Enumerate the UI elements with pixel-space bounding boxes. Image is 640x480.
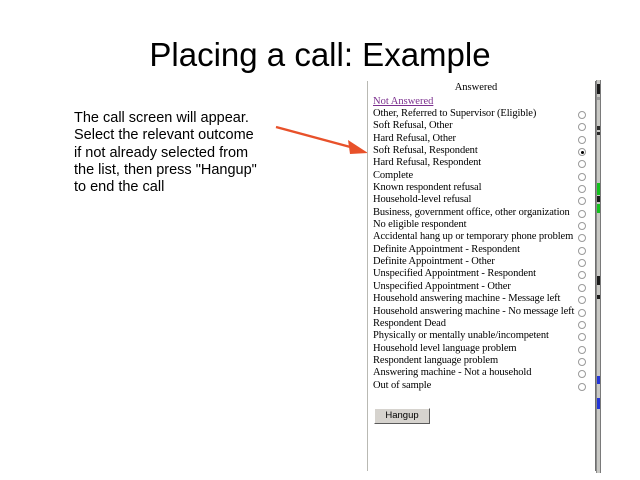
radio-button[interactable] — [578, 173, 586, 181]
slide-canvas: Placing a call: Example The call screen … — [0, 0, 640, 480]
radio-button[interactable] — [578, 284, 586, 292]
call-outcome-label: Accidental hang up or temporary phone pr… — [373, 231, 573, 243]
call-outcome-row[interactable]: Physically or mentally unable/incompeten… — [368, 330, 595, 342]
radio-button[interactable] — [578, 309, 586, 317]
radio-button[interactable] — [578, 370, 586, 378]
call-outcome-label: Respondent language problem — [373, 355, 498, 367]
call-outcome-row[interactable]: Business, government office, other organ… — [368, 207, 595, 219]
edge-strip-mark — [597, 204, 600, 213]
radio-button[interactable] — [578, 234, 586, 242]
call-outcome-row[interactable]: No eligible respondent — [368, 219, 595, 231]
call-outcome-row[interactable]: Unspecified Appointment - Respondent — [368, 268, 595, 280]
not-answered-link[interactable]: Not Answered — [373, 96, 433, 107]
call-outcome-label: Household answering machine - No message… — [373, 306, 574, 318]
call-outcome-row[interactable]: Unspecified Appointment - Other — [368, 281, 595, 293]
call-outcome-row[interactable]: Household-level refusal — [368, 194, 595, 206]
call-outcome-label: Hard Refusal, Respondent — [373, 157, 481, 169]
edge-strip-mark — [597, 376, 600, 384]
edge-strip-mark — [597, 84, 600, 94]
radio-button[interactable] — [578, 136, 586, 144]
edge-strip-mark — [597, 183, 600, 195]
radio-button[interactable] — [578, 160, 586, 168]
radio-button[interactable] — [578, 321, 586, 329]
radio-button[interactable] — [578, 296, 586, 304]
radio-button[interactable] — [578, 210, 586, 218]
call-outcome-label: Soft Refusal, Respondent — [373, 145, 478, 157]
edge-strip-mark — [597, 276, 600, 285]
call-outcome-label: Definite Appointment - Respondent — [373, 244, 520, 256]
call-outcome-label: Household level language problem — [373, 343, 516, 355]
radio-button[interactable] — [578, 383, 586, 391]
instruction-line: the list, then press "Hangup" — [74, 162, 279, 179]
radio-button[interactable] — [578, 247, 586, 255]
call-outcome-row[interactable]: Soft Refusal, Other — [368, 120, 595, 132]
call-outcome-label: Other, Referred to Supervisor (Eligible) — [373, 108, 536, 120]
edge-strip-mark — [597, 126, 600, 130]
call-outcome-label: Respondent Dead — [373, 318, 446, 330]
call-outcome-label: Hard Refusal, Other — [373, 133, 456, 145]
call-outcome-row[interactable]: Soft Refusal, Respondent — [368, 145, 595, 157]
call-outcome-label: Known respondent refusal — [373, 182, 481, 194]
window-edge-strip — [596, 80, 601, 473]
call-outcome-label: Unspecified Appointment - Respondent — [373, 268, 536, 280]
radio-button[interactable] — [578, 358, 586, 366]
call-outcome-label: No eligible respondent — [373, 219, 466, 231]
edge-strip-mark — [597, 132, 600, 135]
call-outcome-label: Soft Refusal, Other — [373, 120, 452, 132]
call-outcome-label: Business, government office, other organ… — [373, 207, 570, 219]
call-outcome-label: Household answering machine - Message le… — [373, 293, 560, 305]
call-outcome-row[interactable]: Definite Appointment - Respondent — [368, 244, 595, 256]
call-screen-panel: Answered Not Answered Other, Referred to… — [367, 81, 596, 471]
edge-strip-mark — [597, 295, 600, 299]
call-outcome-label: Out of sample — [373, 380, 431, 392]
answered-header: Answered — [368, 82, 584, 93]
instruction-text-block: The call screen will appear. Select the … — [74, 110, 279, 196]
instruction-line: if not already selected from — [74, 145, 279, 162]
radio-button[interactable] — [578, 333, 586, 341]
call-outcome-row[interactable]: Household answering machine - Message le… — [368, 293, 595, 305]
radio-button[interactable] — [578, 197, 586, 205]
instruction-line: The call screen will appear. — [74, 110, 279, 127]
call-outcome-row[interactable]: Hard Refusal, Other — [368, 133, 595, 145]
call-outcome-label: Physically or mentally unable/incompeten… — [373, 330, 549, 342]
call-outcome-label: Complete — [373, 170, 413, 182]
call-outcome-label: Definite Appointment - Other — [373, 256, 495, 268]
call-outcome-row[interactable]: Hard Refusal, Respondent — [368, 157, 595, 169]
call-outcome-label: Household-level refusal — [373, 194, 471, 206]
call-outcome-row[interactable]: Known respondent refusal — [368, 182, 595, 194]
edge-strip-mark — [597, 398, 600, 409]
call-outcome-row[interactable]: Household level language problem — [368, 343, 595, 355]
call-outcome-row[interactable]: Accidental hang up or temporary phone pr… — [368, 231, 595, 243]
page-title: Placing a call: Example — [0, 36, 640, 74]
call-outcome-label: Answering machine - Not a household — [373, 367, 531, 379]
call-outcome-list: Other, Referred to Supervisor (Eligible)… — [368, 108, 595, 392]
call-outcome-row[interactable]: Definite Appointment - Other — [368, 256, 595, 268]
call-outcome-row[interactable]: Household answering machine - No message… — [368, 306, 595, 318]
radio-button[interactable] — [578, 123, 586, 131]
radio-button[interactable] — [578, 222, 586, 230]
radio-button-selected[interactable] — [578, 148, 586, 156]
callout-arrow-icon — [272, 115, 372, 163]
radio-button[interactable] — [578, 259, 586, 267]
radio-button[interactable] — [578, 185, 586, 193]
hangup-button[interactable]: Hangup — [374, 408, 430, 424]
instruction-line: Select the relevant outcome — [74, 127, 279, 144]
call-outcome-row[interactable]: Respondent Dead — [368, 318, 595, 330]
edge-strip-mark — [597, 196, 600, 202]
radio-button[interactable] — [578, 346, 586, 354]
call-outcome-row[interactable]: Complete — [368, 170, 595, 182]
call-outcome-row[interactable]: Answering machine - Not a household — [368, 367, 595, 379]
call-outcome-row[interactable]: Other, Referred to Supervisor (Eligible) — [368, 108, 595, 120]
radio-button[interactable] — [578, 271, 586, 279]
instruction-line: to end the call — [74, 179, 279, 196]
call-outcome-row[interactable]: Respondent language problem — [368, 355, 595, 367]
edge-strip-mark — [597, 97, 600, 100]
call-outcome-label: Unspecified Appointment - Other — [373, 281, 511, 293]
call-outcome-row[interactable]: Out of sample — [368, 380, 595, 392]
radio-button[interactable] — [578, 111, 586, 119]
